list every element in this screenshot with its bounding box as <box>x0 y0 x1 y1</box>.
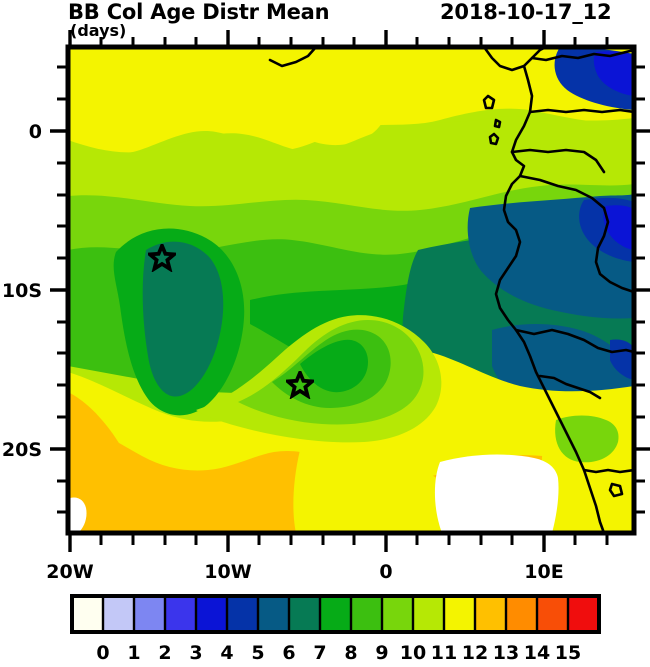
colorbar-swatch-5 <box>227 596 259 632</box>
colorbar-label-8: 8 <box>344 642 357 664</box>
colorbar-swatch-9 <box>351 596 383 632</box>
xtick-label-2: 0 <box>379 561 392 583</box>
colorbar-swatch-11 <box>413 596 445 632</box>
ytick-label-2: 20S <box>2 439 42 461</box>
colorbar-swatch-3 <box>165 596 197 632</box>
colorbar-swatch-15 <box>537 596 569 632</box>
colorbar-label-6: 6 <box>282 642 295 664</box>
colorbar-label-2: 2 <box>158 642 171 664</box>
colorbar-swatch-10 <box>382 596 414 632</box>
figure-root: BB Col Age Distr Mean (days) 2018-10-17_… <box>0 0 650 667</box>
colorbar-swatch-8 <box>320 596 352 632</box>
colorbar-swatch-2 <box>134 596 166 632</box>
colorbar <box>72 596 600 632</box>
ytick-label-0: 0 <box>29 121 42 143</box>
colorbar-swatch-4 <box>196 596 228 632</box>
colorbar-label-5: 5 <box>251 642 264 664</box>
colorbar-swatch-12 <box>444 596 476 632</box>
xtick-label-0: 20W <box>46 561 93 583</box>
colorbar-label-9: 9 <box>375 642 388 664</box>
colorbar-swatch-6 <box>258 596 290 632</box>
xtick-label-1: 10W <box>204 561 251 583</box>
colorbar-swatch-16 <box>568 596 600 632</box>
colorbar-swatch-13 <box>475 596 507 632</box>
colorbar-swatch-14 <box>506 596 538 632</box>
colorbar-swatch-7 <box>289 596 321 632</box>
colorbar-label-11: 11 <box>431 642 457 664</box>
colorbar-label-12: 12 <box>462 642 488 664</box>
colorbar-label-15: 15 <box>555 642 581 664</box>
colorbar-label-3: 3 <box>189 642 202 664</box>
colorbar-label-10: 10 <box>400 642 426 664</box>
map-svg: 20W 10W 0 10E 0 10S 20S 0123456789101112… <box>0 0 650 667</box>
colorbar-tick-labels: 0123456789101112131415 <box>96 642 581 664</box>
colorbar-swatch-1 <box>103 596 135 632</box>
nodata-patch <box>435 455 559 533</box>
xtick-label-3: 10E <box>524 561 563 583</box>
colorbar-label-4: 4 <box>220 642 233 664</box>
colorbar-label-14: 14 <box>524 642 550 664</box>
contour-field <box>68 47 634 533</box>
map-plot-area: 20W 10W 0 10E 0 10S 20S 0123456789101112… <box>0 0 650 667</box>
ytick-label-1: 10S <box>2 280 42 302</box>
colorbar-label-7: 7 <box>313 642 326 664</box>
colorbar-swatch-0 <box>72 596 104 632</box>
colorbar-label-1: 1 <box>127 642 140 664</box>
colorbar-label-13: 13 <box>493 642 519 664</box>
colorbar-label-0: 0 <box>96 642 109 664</box>
